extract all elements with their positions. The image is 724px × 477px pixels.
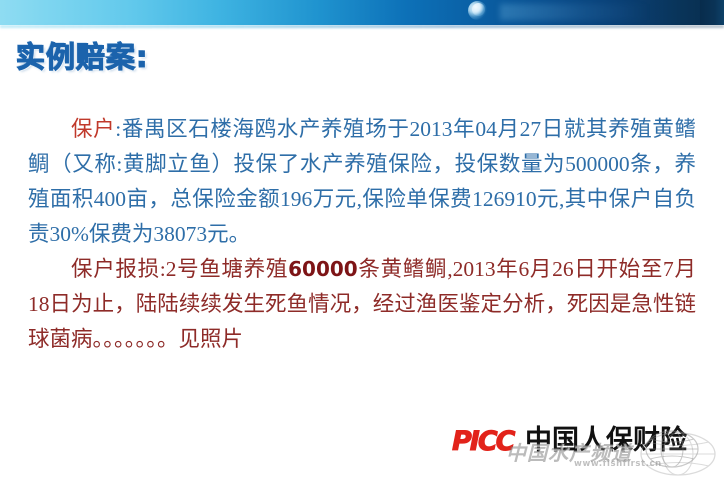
paragraph-one-text: :番禺区石楼海鸥水产养殖场于2013年04月27日就其养殖黄鳍鲷（又称:黄脚立鱼…: [28, 117, 696, 246]
page-title: 实例赔案:: [16, 34, 149, 76]
paragraph-two-label: 保户报损: [71, 257, 160, 281]
globe-icon: [644, 430, 700, 468]
header-right-cap: [700, 0, 724, 25]
picc-logo: PICC 中国人保财险: [452, 424, 714, 470]
paragraph-two-highlight-quantity: 60000: [288, 257, 358, 281]
paragraph-loss-report: 保户报损:2号鱼塘养殖60000条黄鳍鲷,2013年6月26日开始至7月18日为…: [28, 252, 696, 357]
picc-wordmark-icon: PICC: [452, 428, 513, 455]
header-glow: [500, 4, 650, 20]
crescent-moon-highlight-icon: [472, 3, 485, 16]
paragraph-one-label: 保户: [71, 117, 115, 141]
paragraph-policyholder: 保户:番禺区石楼海鸥水产养殖场于2013年04月27日就其养殖黄鳍鲷（又称:黄脚…: [28, 112, 696, 252]
presentation-slide: 实例赔案: 保户:番禺区石楼海鸥水产养殖场于2013年04月27日就其养殖黄鳍鲷…: [0, 0, 724, 477]
paragraph-two-text-before: :2号鱼塘养殖: [160, 257, 288, 281]
header-band-shadow: [0, 25, 724, 28]
